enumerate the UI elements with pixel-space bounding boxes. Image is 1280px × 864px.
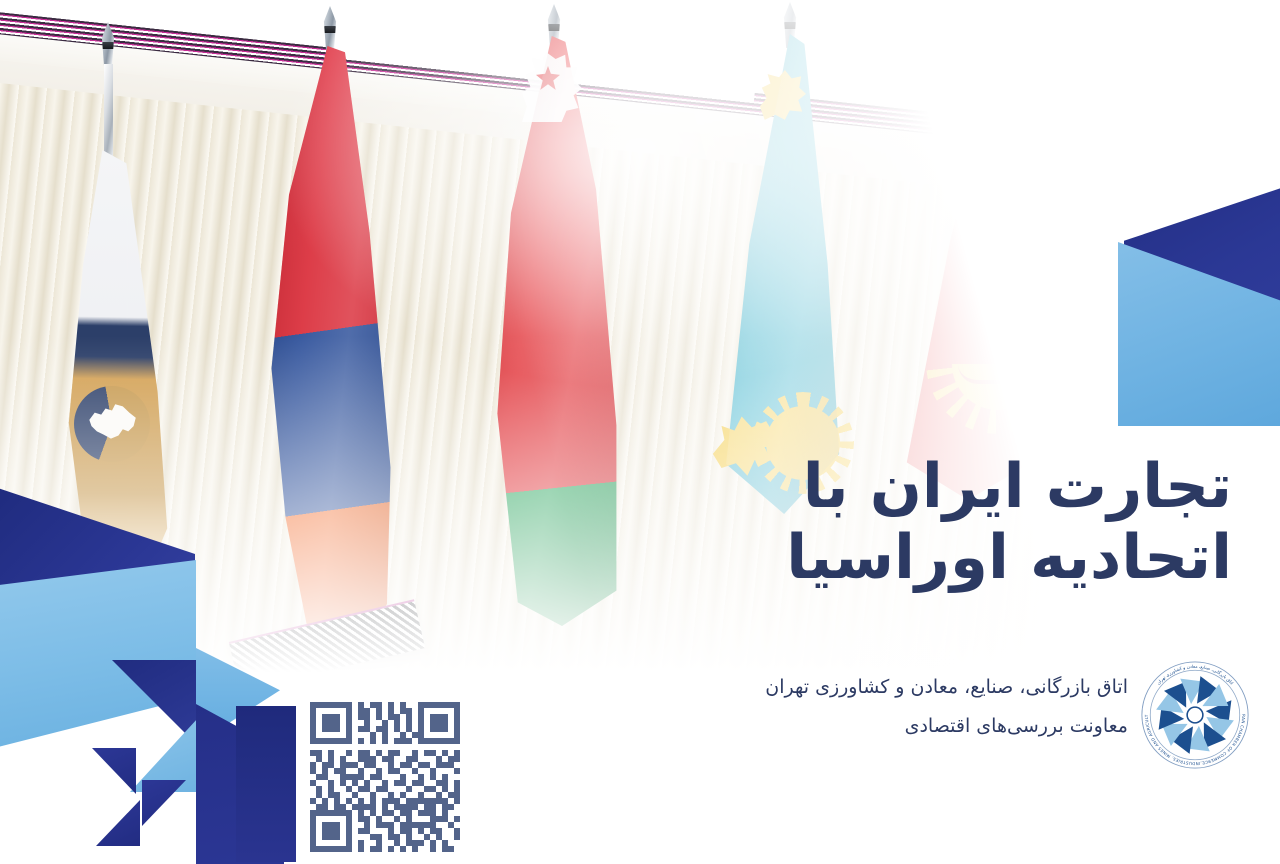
title-line-1: تجارت ایران با: [612, 452, 1232, 523]
department-name: معاونت بررسی‌های اقتصادی: [648, 707, 1128, 746]
page-title: تجارت ایران با اتحادیه اوراسیا: [612, 452, 1232, 594]
organization-name: اتاق بازرگانی، صنایع، معادن و کشاورزی ته…: [648, 668, 1128, 707]
tehran-chamber-logo: اتاق بازرگانی، صنایع، معادن و کشاورزی ته…: [1136, 656, 1254, 774]
publisher-block: اتاق بازرگانی، صنایع، معادن و کشاورزی ته…: [648, 668, 1128, 746]
logo-pinwheel-icon: [1156, 676, 1234, 754]
title-line-2: اتحادیه اوراسیا: [612, 523, 1232, 594]
qr-code[interactable]: [310, 702, 460, 852]
decor-bottom-left-navy-column: [236, 706, 296, 862]
report-cover-page: تجارت ایران با اتحادیه اوراسیا اتاق بازر…: [0, 0, 1280, 864]
